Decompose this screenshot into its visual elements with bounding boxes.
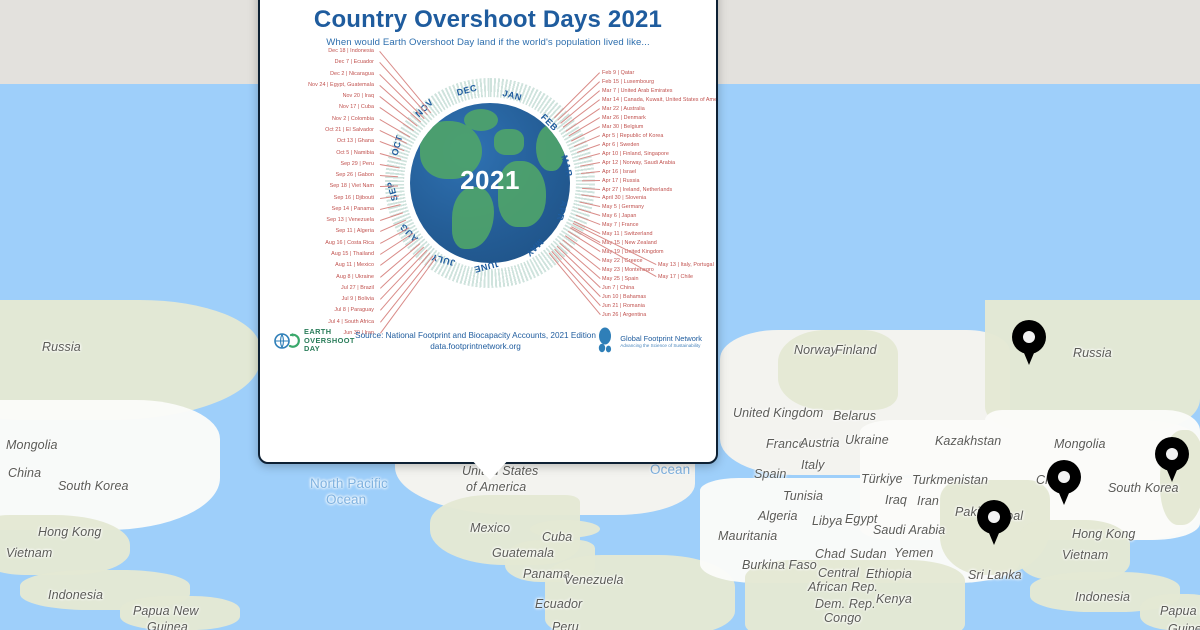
entry-date: May 11 [602,231,620,237]
overshoot-entry: Jul 8 | Paraguay [334,307,374,313]
entry-country: Djibouti [356,195,374,201]
entry-date: Jun 7 [602,285,615,291]
landmass-sea-east [1020,520,1130,580]
overshoot-entry: Nov 24 | Egypt, Guatemala [308,82,374,88]
entry-country: El Salvador [346,127,374,133]
entry-country: Thailand [353,251,374,257]
source-line-1: Source: National Footprint and Biocapaci… [355,330,596,341]
entry-country: Belgium [624,124,644,130]
entry-date: Apr 16 [602,169,618,175]
entry-date: Apr 12 [602,160,618,166]
entry-country: Iraq [365,93,375,99]
global-footprint-network-logo: Global Footprint Network Advancing the S… [596,327,702,355]
overshoot-entry: Apr 6 | Sweden [602,142,639,148]
eod-line-3: DAY [304,345,355,354]
entry-country: United Arab Emirates [621,88,673,94]
entry-country: Japan [621,213,636,219]
map-ocean-label: North Pacific [310,476,388,493]
entry-country: Israel [623,169,636,175]
entry-date: Apr 6 [602,142,615,148]
entry-date: Sep 29 [340,161,357,167]
leader-line [582,180,600,181]
entry-date: May 25 [602,276,620,282]
entry-country: China [620,285,634,291]
entry-country: Qatar [621,70,635,76]
entry-country: Mexico [357,262,374,268]
entry-country: Namibia [354,150,374,156]
entry-date: Nov 24 [308,82,325,88]
entry-date: Nov 17 [339,104,356,110]
entry-date: May 22 [602,258,620,264]
overshoot-entry: Apr 5 | Republic of Korea [602,133,663,139]
eod-logo-text: EARTH OVERSHOOT DAY [304,328,355,354]
popup-pointer-tail [470,458,510,480]
overshoot-entry: Jun 7 | China [602,285,634,291]
entry-date: Dec 7 [335,59,349,65]
entry-date: May 17 [658,274,676,280]
overshoot-entry: Jul 9 | Bolivia [342,296,374,302]
overshoot-entry: Jun 21 | Romania [602,303,645,309]
marker-india[interactable] [977,500,1011,546]
entry-date: Sep 26 [336,172,353,178]
overshoot-entry: Sep 26 | Gabon [336,172,374,178]
entry-date: May 6 [602,213,617,219]
marker-russia[interactable] [1012,320,1046,366]
entry-date: Aug 16 [325,240,342,246]
overshoot-entry: Jun 10 | Bahamas [602,294,646,300]
overshoot-entry: Apr 10 | Finland, Singapore [602,151,669,157]
entry-country: Finland, Singapore [623,151,669,157]
entry-date: Dec 2 [330,71,344,77]
entry-date: Nov 20 [343,93,360,99]
overshoot-entry: Aug 8 | Ukraine [336,274,374,280]
overshoot-entry: Nov 2 | Colombia [332,116,374,122]
overshoot-entry: May 25 | Spain [602,276,639,282]
entry-date: Feb 15 [602,79,619,85]
entry-country: Viet Nam [352,183,374,189]
entry-date: Feb 9 [602,70,616,76]
entry-date: Apr 10 [602,151,618,157]
landmass-china [0,400,220,530]
entry-date: Jun 21 [602,303,619,309]
entry-date: Mar 22 [602,106,619,112]
entry-date: Jul 27 [341,285,356,291]
entry-country: Spain [625,276,639,282]
entry-country: Colombia [351,116,374,122]
entry-date: April 30 [602,195,621,201]
overshoot-entry: Mar 7 | United Arab Emirates [602,88,673,94]
entry-country: Switzerland [624,231,652,237]
overshoot-entry: May 17 | Chile [658,274,693,280]
entry-date: Sep 16 [334,195,351,201]
landmass-sub-saharan-africa [745,560,965,630]
entry-country: Sweden [620,142,640,148]
overshoot-entry: May 13 | Italy, Portugal [658,262,714,268]
entry-date: Mar 7 [602,88,616,94]
entry-country: Bahamas [623,294,646,300]
info-popup[interactable]: consumption. Have a look at how early in… [258,0,718,464]
overshoot-entry: Oct 13 | Ghana [337,138,374,144]
entry-country: Denmark [624,115,646,121]
entry-date: Apr 5 [602,133,615,139]
entry-country: France [621,222,638,228]
landmass-png-east [1140,594,1200,630]
entry-country: Canada, Kuwait, United States of America [624,97,718,103]
entry-date: May 23 [602,267,620,273]
overshoot-entry: Aug 16 | Costa Rica [325,240,374,246]
earth-overshoot-day-logo: EARTH OVERSHOOT DAY [274,328,355,354]
continent-europe [494,129,524,155]
entry-date: Sep 11 [336,228,353,234]
overshoot-entry: Feb 9 | Qatar [602,70,634,76]
entry-country: Panama [354,206,374,212]
entry-date: Dec 18 [328,48,345,54]
overshoot-entry: Sep 13 | Venezuela [326,217,374,223]
overshoot-entry: Apr 17 | Russia [602,178,640,184]
entry-country: Ghana [358,138,374,144]
entry-country: Nicaragua [349,71,374,77]
entry-date: Jun 10 [602,294,619,300]
overshoot-entry: Nov 17 | Cuba [339,104,374,110]
source-credit: Source: National Footprint and Biocapaci… [355,330,596,352]
infographic-country-overshoot-days: Country Overshoot Days 2021 When would E… [260,0,716,368]
screenshot-root: RussiaMongoliaChinaSouth KoreaHong KongV… [0,0,1200,630]
globe-arrow-icon [274,330,300,352]
entry-country: Republic of Korea [620,133,664,139]
overshoot-entry: Feb 15 | Luxembourg [602,79,654,85]
entry-date: Sep 13 [326,217,343,223]
entry-date: Oct 21 [325,127,341,133]
entry-country: Chile [681,274,694,280]
entry-date: Oct 13 [337,138,353,144]
entry-country: Ecuador [354,59,374,65]
overshoot-entry: Apr 12 | Norway, Saudi Arabia [602,160,675,166]
overshoot-entry: Aug 15 | Thailand [331,251,374,257]
overshoot-entry: Nov 20 | Iraq [343,93,374,99]
overshoot-entry: Sep 14 | Panama [332,206,374,212]
entry-country: Gabon [358,172,374,178]
entry-country: Romania [623,303,645,309]
overshoot-entry: Mar 14 | Canada, Kuwait, United States o… [602,97,718,103]
entry-country: Costa Rica [347,240,374,246]
overshoot-entry: Apr 16 | Israel [602,169,636,175]
overshoot-entry: Sep 16 | Djibouti [334,195,374,201]
landmass-scandinavia [778,330,898,410]
entry-country: Egypt, Guatemala [330,82,374,88]
continent-greenland [464,109,498,131]
entry-date: Aug 11 [335,262,352,268]
entry-country: Algeria [357,228,374,234]
entry-country: Slovenia [625,195,646,201]
entry-country: Australia [623,106,644,112]
gfn-line-2: Advancing the Science of Sustainability [620,343,702,348]
continent-south-america [452,187,494,249]
overshoot-entry: May 6 | Japan [602,213,636,219]
landmass-sea [0,515,130,575]
overshoot-entry: Sep 29 | Peru [340,161,374,167]
landmass-png [120,596,240,630]
entry-date: Sep 14 [332,206,349,212]
entry-date: Aug 8 [336,274,350,280]
marker-japan[interactable] [1155,437,1189,483]
overshoot-entry: Mar 30 | Belgium [602,124,643,130]
entry-date: Jul 8 [334,307,346,313]
infographic-footer: EARTH OVERSHOOT DAY Source: National Foo… [260,318,716,364]
overshoot-entry: Mar 22 | Australia [602,106,645,112]
entry-date: Nov 2 [332,116,346,122]
overshoot-entry: April 30 | Slovenia [602,195,646,201]
overshoot-entry: May 22 | Greece [602,258,643,264]
entry-country: Indonesia [350,48,374,54]
entry-country: New Zealand [625,240,657,246]
overshoot-entry: Jul 27 | Brazil [341,285,374,291]
overshoot-entry: Oct 5 | Namibia [336,150,374,156]
entry-date: May 13 [658,262,676,268]
globe-year-label: 2021 [410,165,570,196]
entry-country: Cuba [361,104,374,110]
overshoot-entry: May 5 | Germany [602,204,644,210]
gfn-logo-text: Global Footprint Network Advancing the S… [620,334,702,348]
overshoot-entry: May 7 | France [602,222,639,228]
overshoot-entry: May 11 | Switzerland [602,231,653,237]
entry-country: Ireland, Netherlands [623,187,673,193]
entry-country: Ukraine [355,274,374,280]
overshoot-entry: Dec 18 | Indonesia [328,48,374,54]
entry-country: Luxembourg [624,79,654,85]
entry-country: Russia [623,178,640,184]
overshoot-entry: Sep 11 | Algeria [336,228,374,234]
landmass-caribbean [530,520,600,538]
footprint-icon [596,327,616,355]
entry-country: Venezuela [348,217,374,223]
overshoot-entry: Sep 18 | Viet Nam [330,183,374,189]
overshoot-entry: Aug 11 | Mexico [335,262,374,268]
entry-country: Bolivia [358,296,374,302]
entry-country: Paraguay [351,307,374,313]
map-ocean-label: Ocean [326,492,366,509]
overshoot-entry: Oct 21 | El Salvador [325,127,374,133]
entry-date: Apr 17 [602,178,618,184]
marker-china[interactable] [1047,460,1081,506]
entry-country: Germany [621,204,644,210]
entry-country: Peru [362,161,374,167]
entry-date: Mar 30 [602,124,619,130]
gfn-line-1: Global Footprint Network [620,334,702,343]
overshoot-entry: Mar 26 | Denmark [602,115,646,121]
entry-date: Mar 26 [602,115,619,121]
entry-date: May 7 [602,222,617,228]
overshoot-entry: Dec 2 | Nicaragua [330,71,374,77]
infographic-subtitle: When would Earth Overshoot Day land if t… [260,34,716,48]
entry-date: Jul 9 [342,296,354,302]
entry-date: Sep 18 [330,183,347,189]
entry-country: Brazil [360,285,374,291]
entry-date: Oct 5 [336,150,349,156]
infographic-title: Country Overshoot Days 2021 [260,0,716,34]
overshoot-entry: Dec 7 | Ecuador [335,59,374,65]
overshoot-entry: Apr 27 | Ireland, Netherlands [602,187,672,193]
entry-date: Apr 27 [602,187,618,193]
entry-date: May 5 [602,204,617,210]
entry-date: Mar 14 [602,97,619,103]
entry-country: Italy, Portugal [681,262,714,268]
entry-country: Norway, Saudi Arabia [623,160,675,166]
source-url: data.footprintnetwork.org [355,341,596,352]
entry-date: Aug 15 [331,251,348,257]
